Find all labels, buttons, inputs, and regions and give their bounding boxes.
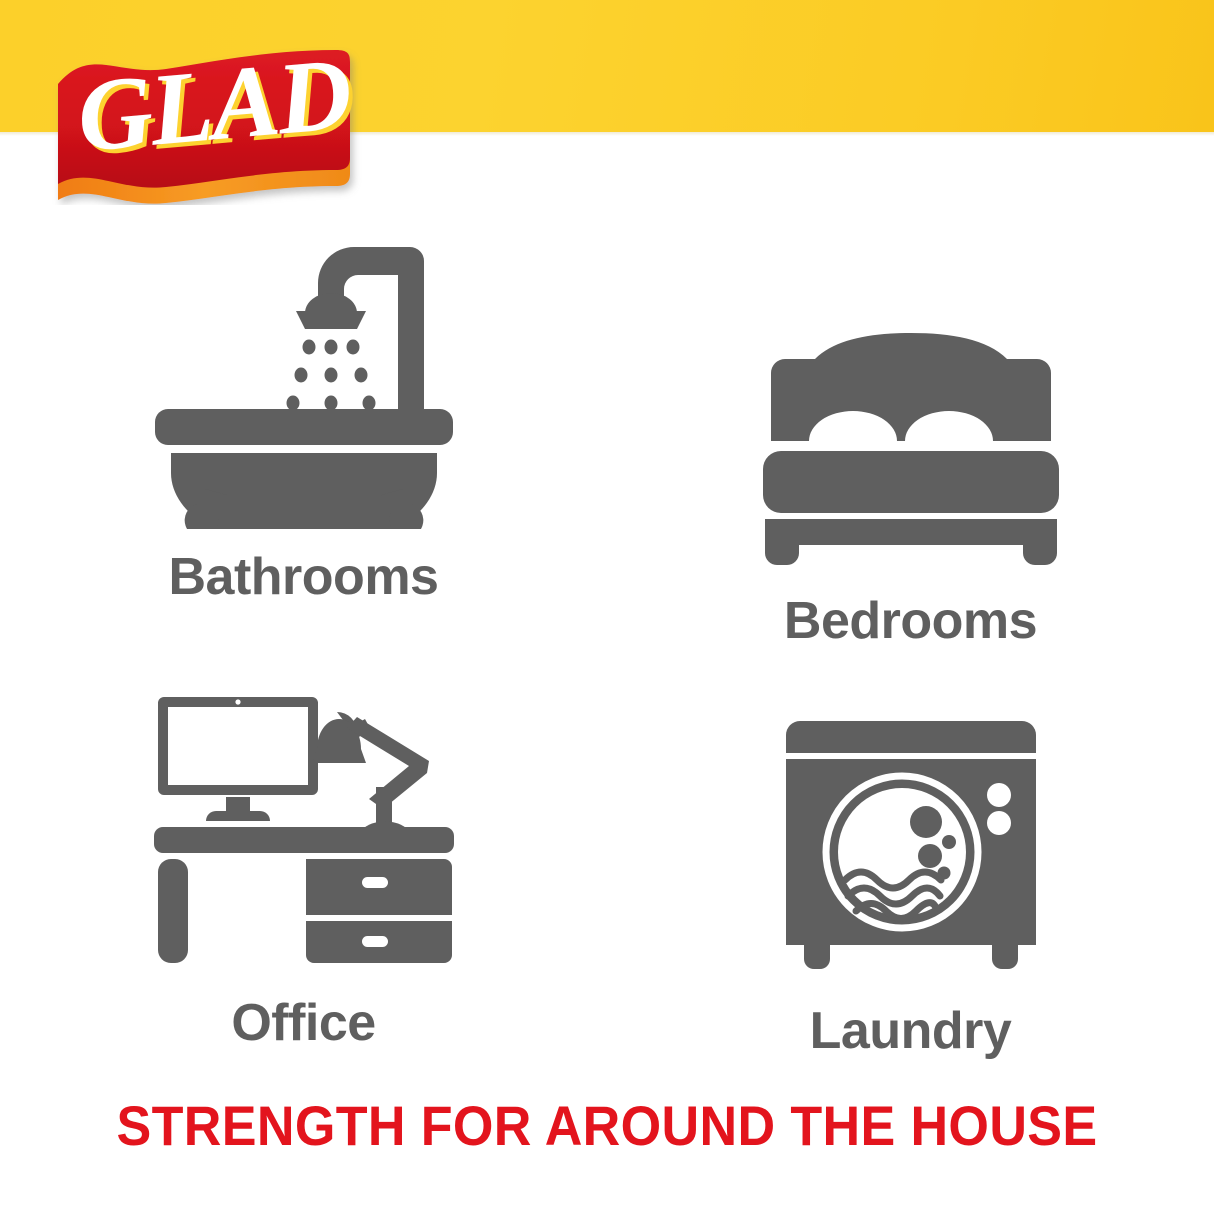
door-window (838, 788, 966, 916)
grid-item-label-bedrooms: Bedrooms (784, 595, 1037, 647)
glad-logo-svg: GLAD GLAD ® (48, 40, 378, 205)
registered-mark-icon: ® (335, 70, 345, 85)
grid-item-bathrooms: Bathrooms (0, 215, 607, 647)
room-icon-grid: Bathrooms Bedrooms (0, 215, 1214, 1045)
bed-icon (761, 273, 1061, 573)
desk-computer-lamp-icon (154, 667, 454, 967)
desk-top (154, 827, 454, 853)
knob-lower (987, 811, 1011, 835)
foot-left (804, 945, 830, 969)
tub-rim (155, 409, 453, 445)
monitor-stand (206, 797, 270, 821)
grid-item-label-laundry: Laundry (810, 1005, 1012, 1057)
monitor-frame (158, 697, 318, 795)
knob-upper (987, 783, 1011, 807)
washing-machine-svg (786, 715, 1036, 975)
monitor-camera-dot (235, 699, 240, 704)
drawer-lower-handle (362, 936, 388, 947)
glad-logo: GLAD GLAD ® (48, 40, 378, 205)
headboard (771, 333, 1051, 441)
water-droplets (286, 340, 375, 411)
promo-graphic-page: GLAD GLAD ® (0, 0, 1214, 1214)
logo-text: GLAD (73, 40, 354, 174)
office-desk-svg (154, 687, 454, 967)
bathtub-shower-svg (149, 239, 459, 529)
bed-base (765, 519, 1057, 565)
mattress (763, 451, 1059, 513)
bathtub-shower-icon (149, 229, 459, 529)
grid-item-laundry: Laundry (607, 647, 1214, 1057)
shower-head-dome (305, 293, 357, 313)
grid-item-label-office: Office (231, 997, 375, 1049)
drawer-upper-handle (362, 877, 388, 888)
shower-head-plate (296, 311, 366, 329)
control-panel (786, 721, 1036, 753)
washing-machine-icon (786, 675, 1036, 975)
grid-item-label-bathrooms: Bathrooms (169, 551, 439, 603)
footer-headline: STRENGTH FOR AROUND THE HOUSE (42, 1093, 1171, 1158)
desk-leg (158, 859, 188, 963)
bed-svg (761, 333, 1061, 573)
foot-right (992, 945, 1018, 969)
grid-item-bedrooms: Bedrooms (607, 215, 1214, 647)
grid-item-office: Office (0, 647, 607, 1057)
